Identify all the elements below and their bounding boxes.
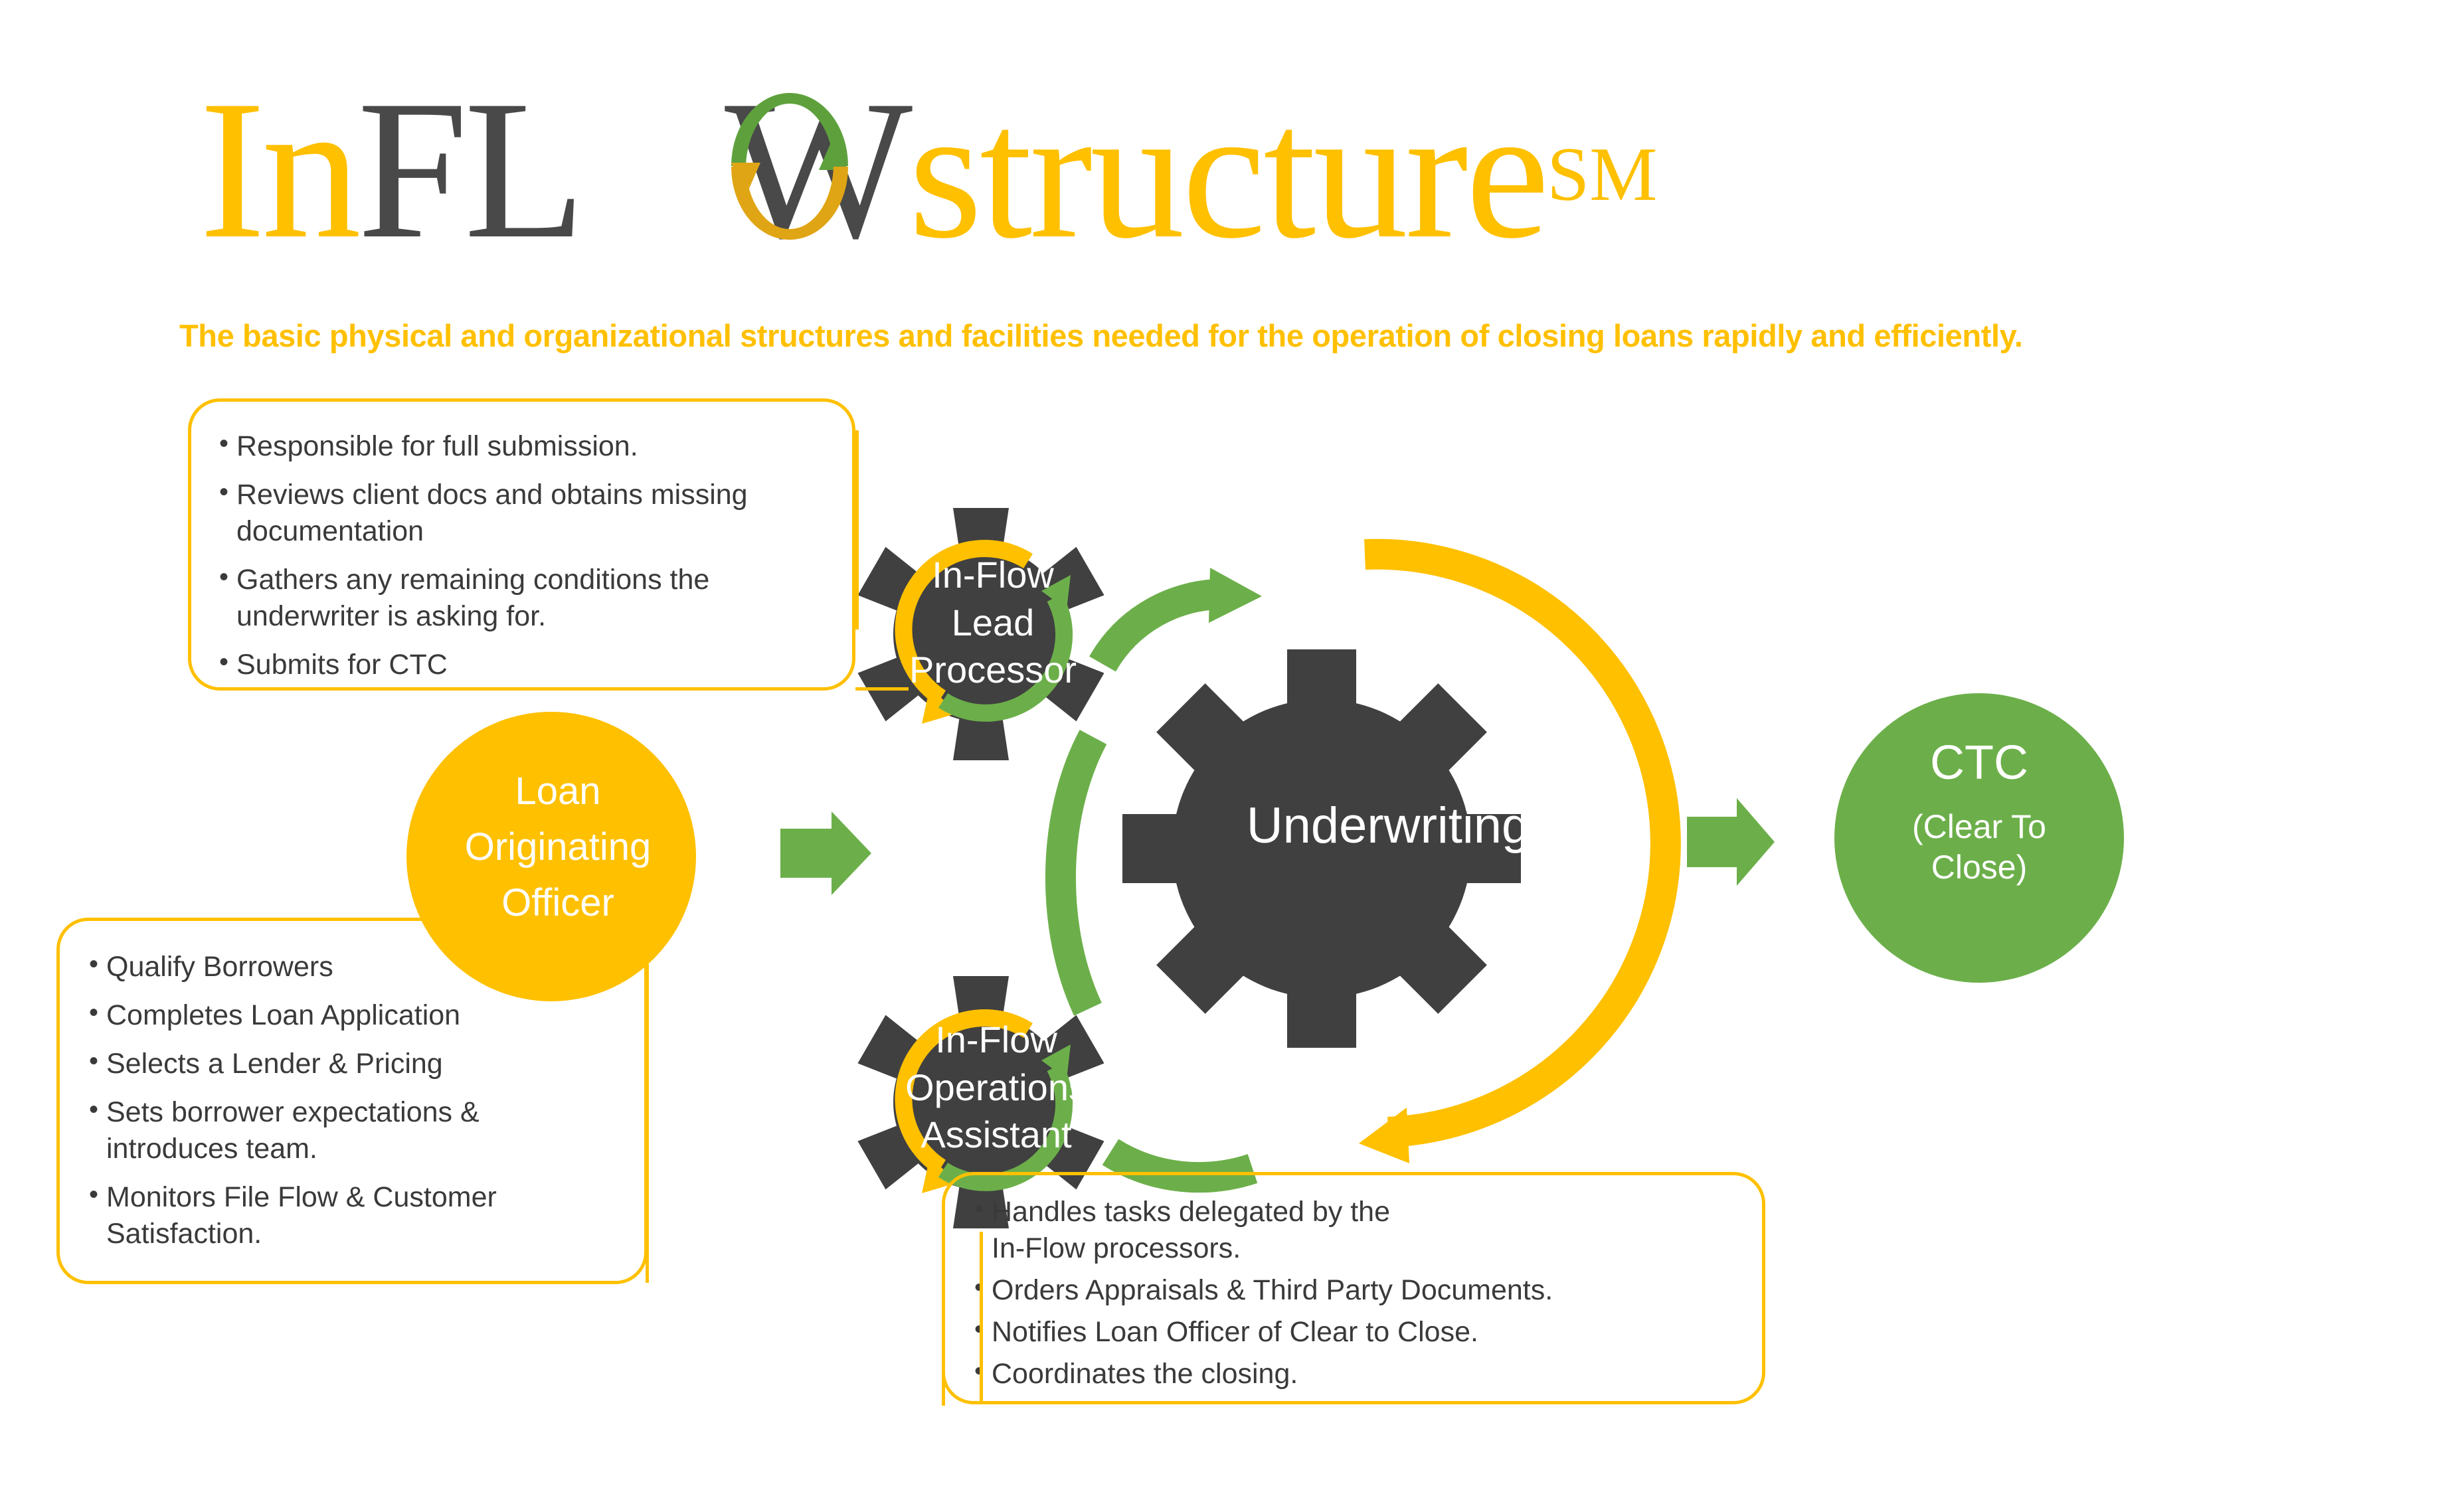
connector-ops-callout-vert: [980, 1232, 983, 1404]
node-underwriting[interactable]: [1122, 649, 1521, 1048]
callout-loan-officer-list: Qualify Borrowers Completes Loan Applica…: [60, 921, 644, 1252]
list-item: Orders Appraisals & Third Party Document…: [972, 1272, 1762, 1309]
list-item: Coordinates the closing.: [972, 1356, 1762, 1392]
list-item: Qualify Borrowers: [86, 949, 644, 985]
callout-operations-assistant-list: Handles tasks delegated by the In-Flow p…: [945, 1175, 1762, 1392]
connector-lead-callout: [855, 430, 859, 629]
connector-ops-callout: [942, 1270, 945, 1406]
list-item: Responsible for full submission.: [217, 428, 852, 465]
list-item: Gathers any remaining conditions the und…: [217, 562, 852, 635]
list-item: Notifies Loan Officer of Clear to Close.: [972, 1314, 1762, 1351]
callout-lead-processor-list: Responsible for full submission. Reviews…: [191, 402, 852, 683]
arrow-underwriting-to-ops: [1061, 737, 1093, 1009]
connector-loan-callout: [646, 964, 649, 1283]
list-item: Reviews client docs and obtains missing …: [217, 477, 852, 550]
list-item: Sets borrower expectations & introduces …: [86, 1094, 644, 1167]
list-item: Monitors File Flow & Customer Satisfacti…: [86, 1179, 644, 1252]
callout-lead-processor: Responsible for full submission. Reviews…: [188, 398, 855, 691]
callout-loan-officer: Qualify Borrowers Completes Loan Applica…: [56, 918, 648, 1284]
connector-lead-callout-bottom: [855, 687, 909, 691]
callout-operations-assistant: Handles tasks delegated by the In-Flow p…: [942, 1172, 1765, 1404]
list-item: Selects a Lender & Pricing: [86, 1046, 644, 1082]
list-item: Completes Loan Application: [86, 997, 644, 1034]
arrow-underwriting-to-ctc: [1687, 798, 1775, 886]
list-item: Submits for CTC: [217, 647, 852, 683]
arrow-officer-to-gears: [780, 811, 871, 895]
node-ctc[interactable]: [1834, 693, 2124, 983]
arrow-lead-to-underwriting: [1102, 568, 1262, 664]
list-item: Handles tasks delegated by the In-Flow p…: [972, 1194, 1762, 1267]
